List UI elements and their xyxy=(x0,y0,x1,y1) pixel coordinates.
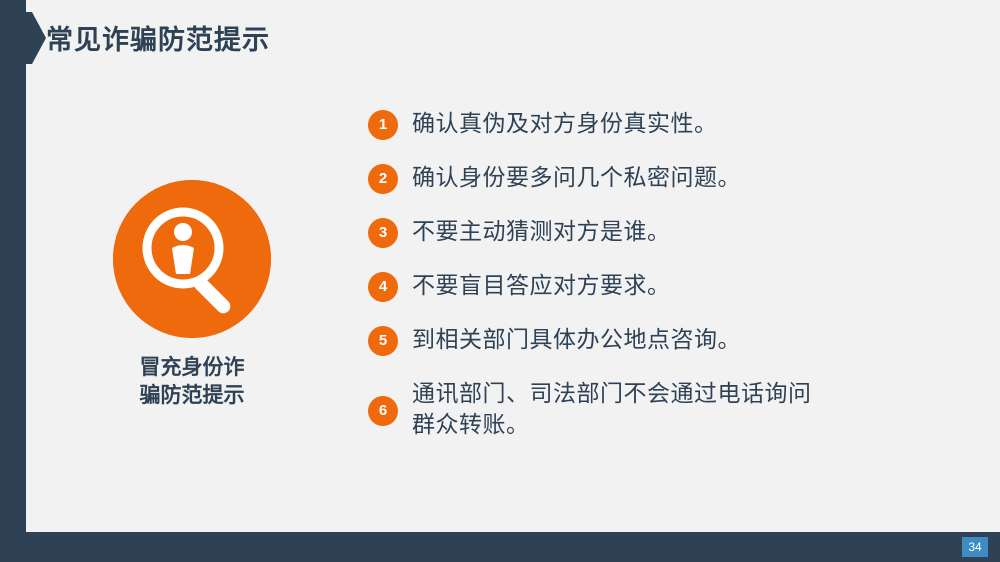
page-number-badge: 34 xyxy=(962,537,988,557)
list-item-text-line2: 群众转账。 xyxy=(412,409,812,440)
icon-caption-line1: 冒充身份诈 xyxy=(140,356,245,379)
list-item-text: 到相关部门具体办公地点咨询。 xyxy=(412,324,741,355)
slide: 常见诈骗防范提示 冒充身份诈 骗防范提示 1 确认真伪及对方身份真实性。 2 xyxy=(0,0,1000,562)
title-arrow-icon xyxy=(12,12,46,64)
list-item-text: 确认真伪及对方身份真实性。 xyxy=(412,108,718,139)
list-item-number: 1 xyxy=(368,110,398,140)
list-item-text-line1: 不要盲目答应对方要求。 xyxy=(412,272,671,298)
list-item-number: 2 xyxy=(368,164,398,194)
list-item-text: 不要主动猜测对方是谁。 xyxy=(412,216,671,247)
list-item-text: 不要盲目答应对方要求。 xyxy=(412,270,671,301)
list-item: 6 通讯部门、司法部门不会通过电话询问 群众转账。 xyxy=(368,378,968,440)
list-item-text-line1: 不要主动猜测对方是谁。 xyxy=(412,218,671,244)
icon-caption: 冒充身份诈 骗防范提示 xyxy=(112,354,272,411)
page-title: 常见诈骗防范提示 xyxy=(46,18,270,57)
list-item-number: 6 xyxy=(368,396,398,426)
list-item: 1 确认真伪及对方身份真实性。 xyxy=(368,108,968,140)
tips-list: 1 确认真伪及对方身份真实性。 2 确认身份要多问几个私密问题。 3 不要主动猜… xyxy=(368,108,968,462)
list-item: 5 到相关部门具体办公地点咨询。 xyxy=(368,324,968,356)
list-item-text: 通讯部门、司法部门不会通过电话询问 群众转账。 xyxy=(412,378,812,440)
list-item-number: 5 xyxy=(368,326,398,356)
list-item-text-line1: 确认真伪及对方身份真实性。 xyxy=(412,110,718,136)
bottom-accent-band xyxy=(0,532,1000,562)
list-item-number: 3 xyxy=(368,218,398,248)
list-item-text-line1: 到相关部门具体办公地点咨询。 xyxy=(412,326,741,352)
list-item-number: 4 xyxy=(368,272,398,302)
left-accent-band xyxy=(0,0,26,562)
list-item-text-line1: 通讯部门、司法部门不会通过电话询问 xyxy=(412,380,812,406)
person-magnifier-icon xyxy=(113,180,271,338)
list-item-text: 确认身份要多问几个私密问题。 xyxy=(412,162,741,193)
icon-block: 冒充身份诈 骗防范提示 xyxy=(112,180,272,411)
list-item: 3 不要主动猜测对方是谁。 xyxy=(368,216,968,248)
icon-caption-line2: 骗防范提示 xyxy=(140,384,245,407)
list-item-text-line1: 确认身份要多问几个私密问题。 xyxy=(412,164,741,190)
list-item: 4 不要盲目答应对方要求。 xyxy=(368,270,968,302)
list-item: 2 确认身份要多问几个私密问题。 xyxy=(368,162,968,194)
